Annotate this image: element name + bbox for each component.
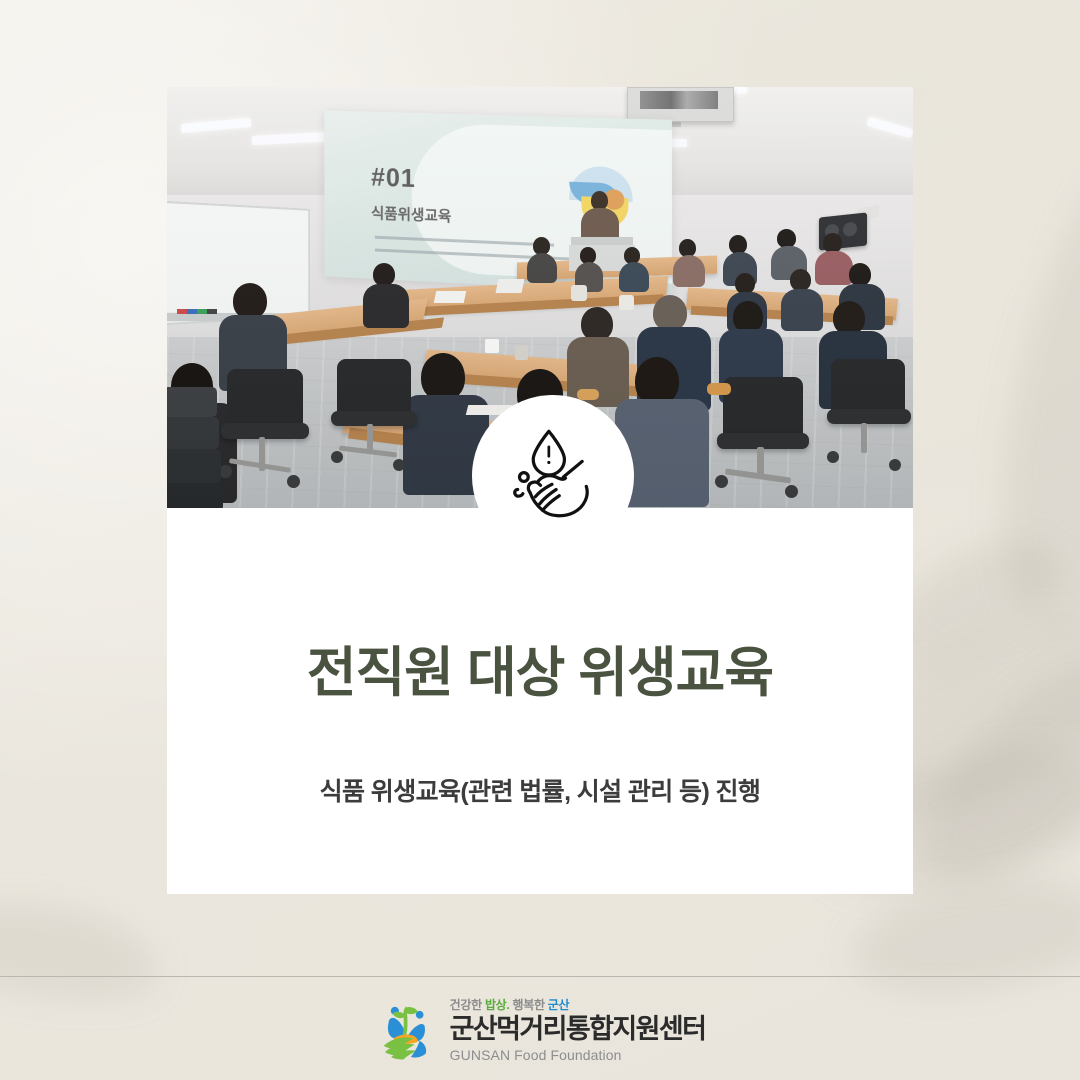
foundation-emblem-icon <box>375 1000 437 1062</box>
organization-name-ko: 군산먹거리통합지원센터 <box>450 1016 706 1043</box>
tagline-part-3: 행복한 <box>509 998 547 1012</box>
handwash-badge <box>472 395 634 557</box>
organization-logo: 건강한 밥상. 행복한 군산 군산먹거리통합지원센터 GUNSAN Food F… <box>375 999 706 1062</box>
page-title: 전직원 대상 위생교육 <box>167 628 913 707</box>
content-card: #01 식품위생교육 <box>167 87 913 894</box>
handwash-icon <box>501 424 605 528</box>
logo-tagline: 건강한 밥상. 행복한 군산 <box>450 999 706 1011</box>
organization-name-en: GUNSAN Food Foundation <box>450 1048 706 1062</box>
logo-text: 건강한 밥상. 행복한 군산 군산먹거리통합지원센터 GUNSAN Food F… <box>450 999 706 1062</box>
page-subtitle: 식품 위생교육(관련 법률, 시설 관리 등) 진행 <box>167 772 913 808</box>
tagline-part-1: 건강한 <box>450 998 485 1012</box>
logo-mark-icon <box>375 1000 437 1062</box>
footer: 건강한 밥상. 행복한 군산 군산먹거리통합지원센터 GUNSAN Food F… <box>0 977 1080 1080</box>
tagline-part-4: 군산 <box>548 998 569 1012</box>
tagline-part-2: 밥상. <box>485 998 510 1012</box>
